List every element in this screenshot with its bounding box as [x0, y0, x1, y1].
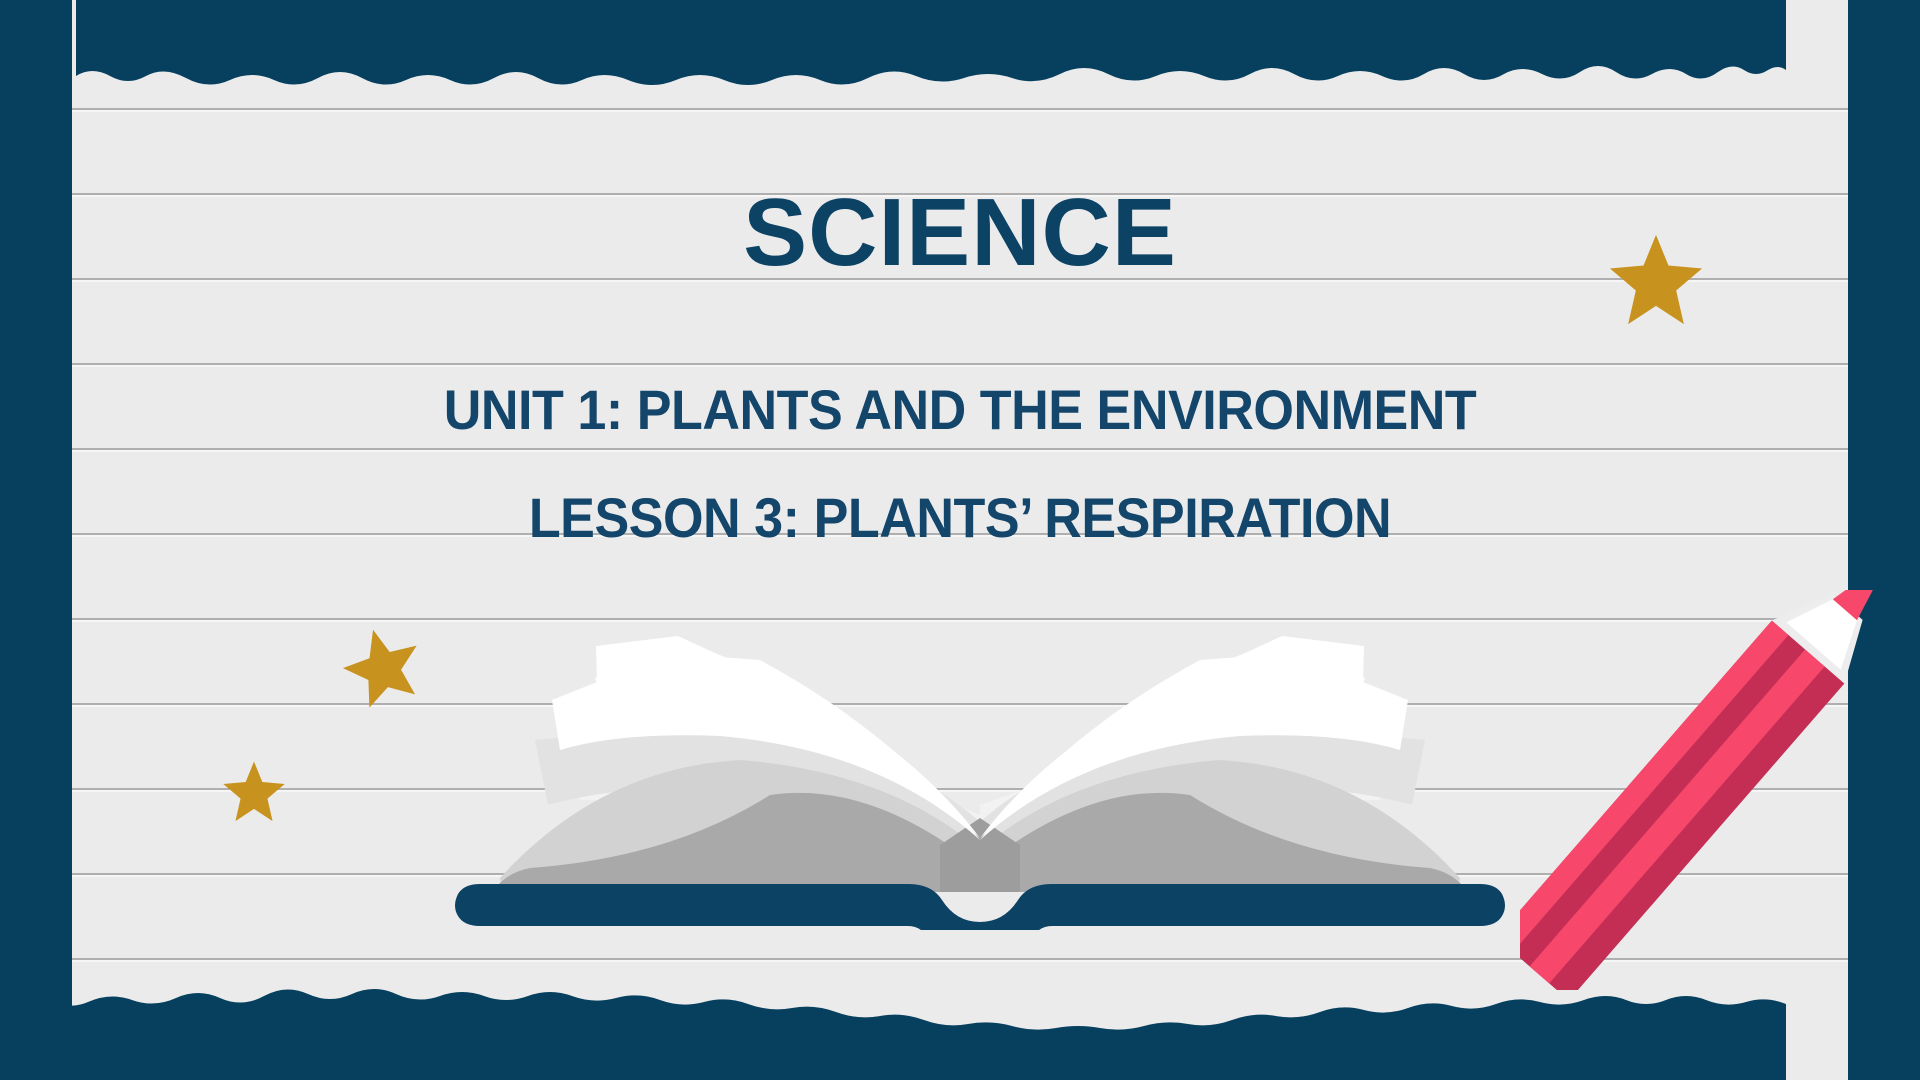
border-left: [0, 0, 72, 1080]
star-icon: [342, 634, 422, 717]
torn-paper-edge-bottom: [0, 970, 1786, 1080]
open-book-icon: [440, 600, 1520, 935]
rule-line: [72, 533, 1848, 535]
rule-line: [72, 108, 1848, 110]
slide-canvas: SCIENCE UNIT 1: PLANTS AND THE ENVIRONME…: [0, 0, 1920, 1080]
rule-line: [72, 193, 1848, 195]
rule-line: [72, 278, 1848, 280]
pencil-icon: [1520, 590, 1920, 995]
torn-paper-edge-top: [0, 0, 1786, 100]
rule-line: [72, 448, 1848, 450]
star-icon: [222, 760, 286, 827]
rule-line: [72, 363, 1848, 365]
star-icon: [1608, 232, 1704, 331]
